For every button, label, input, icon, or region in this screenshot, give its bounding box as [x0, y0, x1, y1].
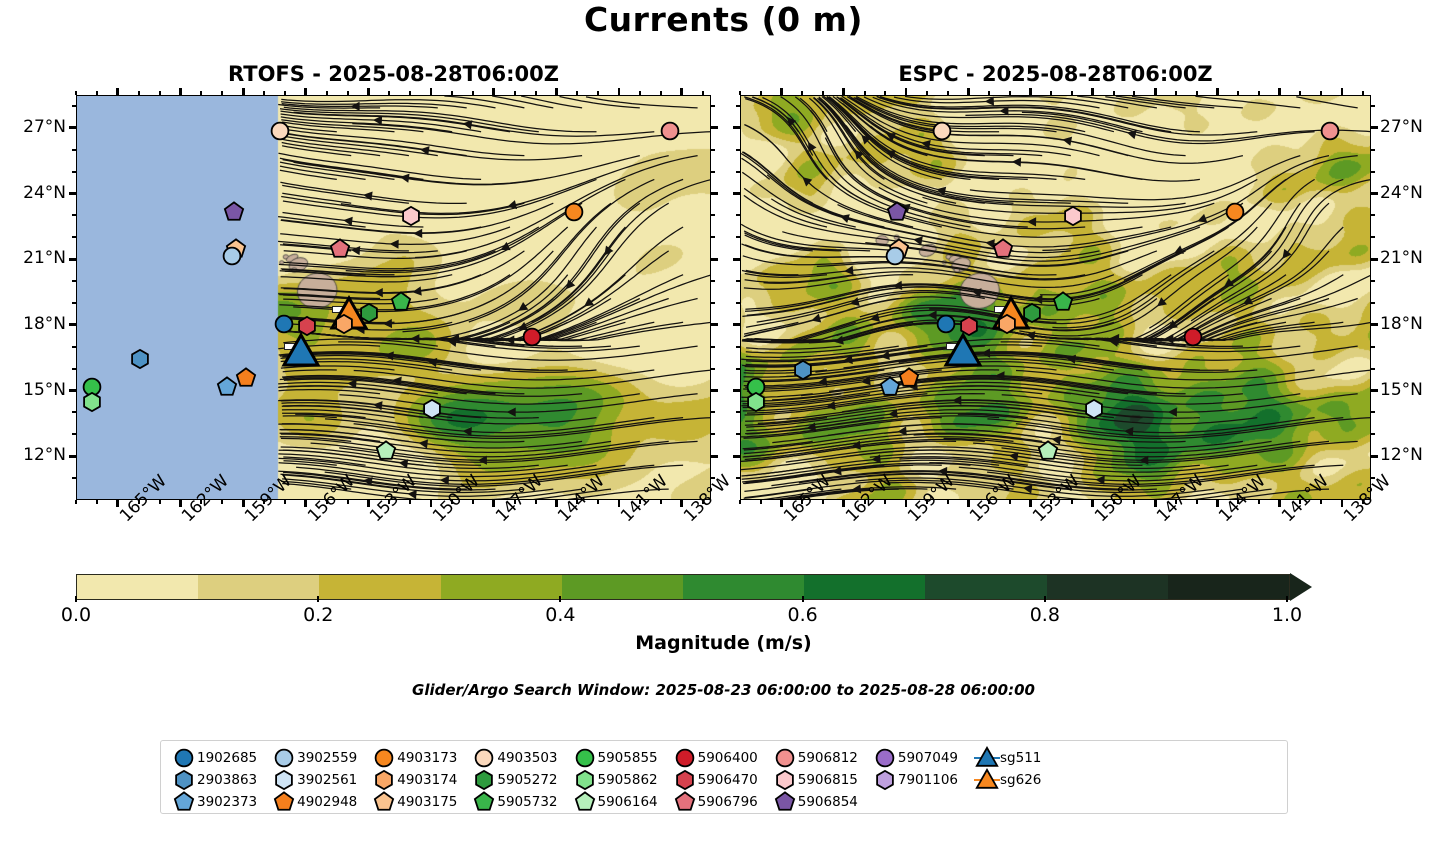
ytick-minor	[72, 477, 76, 479]
legend-item-2903863[interactable]: 2903863	[171, 770, 257, 789]
pentagon-marker-icon	[371, 792, 397, 811]
legend-item-5906400[interactable]: 5906400	[672, 748, 758, 767]
colorbar-tick-0.4: 0.4	[520, 604, 600, 626]
ytick-minor	[736, 433, 740, 435]
ytick-minor	[72, 368, 76, 370]
xtick-minor-top	[1258, 91, 1260, 95]
xtick-minor	[451, 500, 453, 504]
legend-item-1902685[interactable]: 1902685	[171, 748, 257, 767]
ytick-minor	[736, 149, 740, 151]
ytick-mark-0-18	[69, 323, 76, 326]
hexagon-marker-icon	[271, 770, 297, 789]
ytick-minor	[1371, 302, 1375, 304]
hexagon-marker-icon	[371, 770, 397, 789]
hexagon-marker-icon	[171, 770, 197, 789]
xtick-minor	[760, 500, 762, 504]
legend-label: 3902561	[297, 772, 357, 788]
ytick-minor	[736, 302, 740, 304]
ytick-minor	[711, 214, 715, 216]
xtick-minor	[514, 500, 516, 504]
ytick-minor	[1371, 236, 1375, 238]
legend-item-5905862[interactable]: 5905862	[572, 770, 658, 789]
xtick-minor-top	[801, 91, 803, 95]
xtick-minor-top	[884, 91, 886, 95]
ytick-minor	[1371, 433, 1375, 435]
xtick-mark	[492, 500, 495, 507]
ytick-mark-2-27	[733, 126, 740, 129]
ytick-minor	[1371, 171, 1375, 173]
ytick-minor	[711, 411, 715, 413]
xtick-minor-top	[1320, 91, 1322, 95]
colorbar-band-4	[562, 575, 683, 599]
xtick-minor	[702, 500, 704, 504]
xtick-mark-top	[1091, 88, 1094, 95]
xtick-minor-top	[138, 91, 140, 95]
legend-label: 4903173	[397, 750, 457, 766]
xtick-mark	[842, 500, 845, 507]
legend-label: 2903863	[197, 772, 257, 788]
ytick-minor	[711, 302, 715, 304]
colorbar-band-1	[198, 575, 319, 599]
colorbar-tick-0.6: 0.6	[763, 604, 843, 626]
ytick-minor	[1371, 411, 1375, 413]
ytick-mark-2-18	[733, 323, 740, 326]
colorbar-title: Magnitude (m/s)	[0, 632, 1447, 654]
xtick-minor-top	[451, 91, 453, 95]
ytick-minor	[736, 236, 740, 238]
ytick-minor	[1371, 214, 1375, 216]
xtick-minor-top	[1175, 91, 1177, 95]
xtick-minor-top	[388, 91, 390, 95]
legend-item-sg626[interactable]: sg626	[974, 770, 1041, 789]
legend-label: sg511	[1000, 750, 1041, 766]
colorbar-band-0	[77, 575, 198, 599]
xtick-minor-top	[739, 91, 741, 95]
colorbar-band-7	[925, 575, 1046, 599]
legend-label: 7901106	[898, 772, 958, 788]
pentagon-marker-icon	[271, 792, 297, 811]
xtick-mark-top	[367, 88, 370, 95]
xtick-mark-top	[680, 88, 683, 95]
colorbar-tick-1: 1.0	[1247, 604, 1327, 626]
ytick-minor	[711, 368, 715, 370]
circle-marker-icon	[872, 748, 898, 767]
legend-item-5906470[interactable]: 5906470	[672, 770, 758, 789]
legend-column-2: 490317349031744903175	[371, 748, 457, 811]
legend-column-3: 490350359052725905732	[471, 748, 557, 811]
ytick-label-right-21: 21°N	[1380, 248, 1447, 268]
panel-title-rtofs: RTOFS - 2025-08-28T06:00Z	[76, 62, 711, 86]
ytick-mark-0-12	[69, 455, 76, 458]
ytick-label-right-24: 24°N	[1380, 183, 1447, 203]
pentagon-marker-icon	[772, 792, 798, 811]
legend-label: 4903174	[397, 772, 457, 788]
xtick-minor-top	[263, 91, 265, 95]
ytick-label-left-27: 27°N	[4, 117, 66, 137]
xtick-minor-top	[347, 91, 349, 95]
ytick-minor	[736, 368, 740, 370]
xtick-minor-top	[1196, 91, 1198, 95]
xtick-mark	[780, 500, 783, 507]
ytick-mark-3-15	[1371, 389, 1378, 392]
legend-label: 5906815	[798, 772, 858, 788]
legend-item-5906815[interactable]: 5906815	[772, 770, 858, 789]
legend-label: 4902948	[297, 794, 357, 810]
ytick-label-right-12: 12°N	[1380, 445, 1447, 465]
xtick-minor-top	[660, 91, 662, 95]
ytick-mark-0-27	[69, 126, 76, 129]
xtick-minor	[1362, 500, 1364, 504]
hexagon-marker-icon	[872, 770, 898, 789]
xtick-minor	[1009, 500, 1011, 504]
xtick-mark	[1341, 500, 1344, 507]
ytick-minor	[1371, 149, 1375, 151]
ytick-minor	[1371, 346, 1375, 348]
xtick-minor	[263, 500, 265, 504]
xtick-minor-top	[284, 91, 286, 95]
xtick-mark-top	[242, 88, 245, 95]
legend-item-3902373[interactable]: 3902373	[171, 792, 257, 811]
xtick-minor-top	[822, 91, 824, 95]
xtick-minor	[1113, 500, 1115, 504]
ytick-mark-3-12	[1371, 455, 1378, 458]
map-panel-rtofs[interactable]	[76, 95, 711, 500]
legend-label: 1902685	[197, 750, 257, 766]
xtick-minor	[1320, 500, 1322, 504]
xtick-mark	[367, 500, 370, 507]
hexagon-marker-icon	[672, 770, 698, 789]
ytick-minor	[1371, 280, 1375, 282]
xtick-minor-top	[1009, 91, 1011, 95]
legend-item-3902561[interactable]: 3902561	[271, 770, 357, 789]
xtick-minor-top	[760, 91, 762, 95]
xtick-minor	[1299, 500, 1301, 504]
xtick-minor	[1237, 500, 1239, 504]
legend-column-8: sg511sg626	[974, 748, 1041, 789]
xtick-mark	[179, 500, 182, 507]
xtick-minor	[96, 500, 98, 504]
ytick-minor	[736, 280, 740, 282]
legend-label: 5906854	[798, 794, 858, 810]
legend-label: 5906470	[698, 772, 758, 788]
ytick-minor	[72, 149, 76, 151]
xtick-mark-top	[618, 88, 621, 95]
xtick-minor	[597, 500, 599, 504]
ytick-mark-1-15	[711, 389, 718, 392]
ytick-mark-2-21	[733, 258, 740, 261]
circle-marker-icon	[471, 748, 497, 767]
ytick-minor	[72, 105, 76, 107]
legend-column-4: 590585559058625906164	[572, 748, 658, 811]
legend-label: 5905855	[598, 750, 658, 766]
glider-triangle-icon	[974, 748, 1000, 767]
xtick-minor	[1258, 500, 1260, 504]
ytick-mark-2-24	[733, 192, 740, 195]
xtick-minor-top	[200, 91, 202, 95]
xtick-minor	[864, 500, 866, 504]
ytick-minor	[711, 236, 715, 238]
xtick-mark-top	[1029, 88, 1032, 95]
legend-item-4902948[interactable]: 4902948	[271, 792, 357, 811]
ytick-label-right-27: 27°N	[1380, 117, 1447, 137]
xtick-minor-top	[472, 91, 474, 95]
legend-item-5907049[interactable]: 5907049	[872, 748, 958, 767]
ytick-mark-3-18	[1371, 323, 1378, 326]
ytick-label-left-12: 12°N	[4, 445, 66, 465]
ytick-minor	[711, 171, 715, 173]
xtick-mark	[1029, 500, 1032, 507]
xtick-minor	[535, 500, 537, 504]
legend-item-4903173[interactable]: 4903173	[371, 748, 457, 767]
colorbar-tickmark	[75, 596, 77, 602]
xtick-minor	[639, 500, 641, 504]
circle-marker-icon	[672, 748, 698, 767]
xtick-minor-top	[576, 91, 578, 95]
xtick-mark	[905, 500, 908, 507]
ytick-label-right-15: 15°N	[1380, 380, 1447, 400]
ytick-minor	[736, 214, 740, 216]
xtick-minor	[138, 500, 140, 504]
ytick-minor	[711, 433, 715, 435]
xtick-mark	[1154, 500, 1157, 507]
xtick-minor-top	[1071, 91, 1073, 95]
xtick-minor	[884, 500, 886, 504]
xtick-minor-top	[947, 91, 949, 95]
ytick-mark-1-18	[711, 323, 718, 326]
xtick-minor	[739, 500, 741, 504]
ytick-mark-0-24	[69, 192, 76, 195]
ytick-label-left-21: 21°N	[4, 248, 66, 268]
xtick-mark	[618, 500, 621, 507]
xtick-minor-top	[1362, 91, 1364, 95]
legend-label: sg626	[1000, 772, 1041, 788]
colorbar-band-8	[1047, 575, 1168, 599]
xtick-mark-top	[1278, 88, 1281, 95]
xtick-minor	[926, 500, 928, 504]
xtick-minor-top	[221, 91, 223, 95]
figure-title: Currents (0 m)	[0, 0, 1447, 39]
colorbar-tick-0.2: 0.2	[278, 604, 358, 626]
ytick-minor	[736, 346, 740, 348]
xtick-minor	[221, 500, 223, 504]
legend-column-0: 190268529038633902373	[171, 748, 257, 811]
xtick-minor	[947, 500, 949, 504]
search-window-note: Glider/Argo Search Window: 2025-08-23 06…	[0, 681, 1447, 699]
xtick-minor	[326, 500, 328, 504]
legend-column-6: 590681259068155906854	[772, 748, 858, 811]
pentagon-marker-icon	[572, 792, 598, 811]
xtick-minor	[1133, 500, 1135, 504]
circle-marker-icon	[171, 748, 197, 767]
xtick-mark	[1216, 500, 1219, 507]
ytick-minor	[1371, 368, 1375, 370]
ytick-minor	[711, 105, 715, 107]
legend-item-3902559[interactable]: 3902559	[271, 748, 357, 767]
ytick-mark-3-27	[1371, 126, 1378, 129]
legend-label: 5906796	[698, 794, 758, 810]
xtick-mark	[116, 500, 119, 507]
legend-label: 5906164	[598, 794, 658, 810]
legend-label: 5906812	[798, 750, 858, 766]
circle-marker-icon	[572, 748, 598, 767]
xtick-minor-top	[514, 91, 516, 95]
xtick-mark-top	[492, 88, 495, 95]
ytick-mark-2-12	[733, 455, 740, 458]
colorbar-tick-0.8: 0.8	[1005, 604, 1085, 626]
xtick-minor-top	[75, 91, 77, 95]
colorbar	[76, 574, 1331, 600]
legend-item-5905732[interactable]: 5905732	[471, 792, 557, 811]
hexagon-marker-icon	[471, 770, 497, 789]
circle-marker-icon	[371, 748, 397, 767]
xtick-mark-top	[1216, 88, 1219, 95]
xtick-minor-top	[1299, 91, 1301, 95]
xtick-minor	[347, 500, 349, 504]
pentagon-marker-icon	[471, 792, 497, 811]
xtick-minor-top	[535, 91, 537, 95]
xtick-minor	[284, 500, 286, 504]
ytick-minor	[736, 171, 740, 173]
xtick-minor	[1050, 500, 1052, 504]
legend-label: 5906400	[698, 750, 758, 766]
xtick-mark	[1091, 500, 1094, 507]
ytick-minor	[72, 236, 76, 238]
colorbar-extend-arrow	[1290, 573, 1312, 601]
xtick-minor-top	[1050, 91, 1052, 95]
xtick-mark-top	[179, 88, 182, 95]
ytick-minor	[711, 280, 715, 282]
colorbar-tick-0: 0.0	[36, 604, 116, 626]
ytick-mark-0-21	[69, 258, 76, 261]
xtick-minor-top	[159, 91, 161, 95]
xtick-minor-top	[864, 91, 866, 95]
legend-item-5906812[interactable]: 5906812	[772, 748, 858, 767]
xtick-mark-top	[116, 88, 119, 95]
xtick-minor	[801, 500, 803, 504]
circle-marker-icon	[271, 748, 297, 767]
legend-item-5906854[interactable]: 5906854	[772, 792, 858, 811]
xtick-minor	[159, 500, 161, 504]
xtick-mark	[555, 500, 558, 507]
xtick-mark	[242, 500, 245, 507]
float-legend[interactable]: 1902685290386339023733902559390256149029…	[160, 740, 1288, 814]
legend-item-4903175[interactable]: 4903175	[371, 792, 457, 811]
glider-triangle-icon	[974, 770, 1000, 789]
legend-item-4903503[interactable]: 4903503	[471, 748, 557, 767]
xtick-minor-top	[96, 91, 98, 95]
legend-label: 5905272	[497, 772, 557, 788]
ytick-mark-1-12	[711, 455, 718, 458]
xtick-mark-top	[304, 88, 307, 95]
ytick-mark-3-24	[1371, 192, 1378, 195]
hexagon-marker-icon	[572, 770, 598, 789]
legend-label: 4903175	[397, 794, 457, 810]
legend-column-5: 590640059064705906796	[672, 748, 758, 811]
xtick-mark-top	[842, 88, 845, 95]
xtick-mark-top	[905, 88, 908, 95]
ytick-label-left-18: 18°N	[4, 314, 66, 334]
map-panel-espc[interactable]	[740, 95, 1371, 500]
marker-layer-rtofs	[77, 96, 710, 499]
colorbar-band-6	[804, 575, 925, 599]
ytick-minor	[736, 411, 740, 413]
xtick-mark-top	[555, 88, 558, 95]
legend-item-7901106[interactable]: 7901106	[872, 770, 958, 789]
legend-item-5905272[interactable]: 5905272	[471, 770, 557, 789]
xtick-minor	[472, 500, 474, 504]
colorbar-band-3	[441, 575, 562, 599]
colorbar-tickmark	[559, 596, 561, 602]
legend-label: 5907049	[898, 750, 958, 766]
ytick-mark-1-27	[711, 126, 718, 129]
ytick-minor	[72, 302, 76, 304]
colorbar-tickmark	[1286, 596, 1288, 602]
colorbar-band-5	[683, 575, 804, 599]
xtick-mark	[304, 500, 307, 507]
xtick-minor	[75, 500, 77, 504]
xtick-minor-top	[597, 91, 599, 95]
ytick-minor	[72, 214, 76, 216]
legend-item-5906796[interactable]: 5906796	[672, 792, 758, 811]
legend-item-sg511[interactable]: sg511	[974, 748, 1041, 767]
xtick-minor	[1196, 500, 1198, 504]
xtick-minor-top	[926, 91, 928, 95]
xtick-mark	[680, 500, 683, 507]
colorbar-band-2	[319, 575, 440, 599]
legend-item-4903174[interactable]: 4903174	[371, 770, 457, 789]
circle-marker-icon	[772, 748, 798, 767]
ytick-mark-2-15	[733, 389, 740, 392]
xtick-mark	[967, 500, 970, 507]
legend-label: 4903503	[497, 750, 557, 766]
marker-layer-espc	[741, 96, 1370, 499]
ytick-minor	[72, 171, 76, 173]
ytick-label-left-24: 24°N	[4, 183, 66, 203]
ytick-minor	[72, 280, 76, 282]
legend-label: 3902373	[197, 794, 257, 810]
xtick-minor-top	[1133, 91, 1135, 95]
legend-item-5906164[interactable]: 5906164	[572, 792, 658, 811]
xtick-minor	[988, 500, 990, 504]
ytick-minor	[736, 477, 740, 479]
ytick-minor	[72, 411, 76, 413]
colorbar-tickmark	[802, 596, 804, 602]
xtick-minor	[660, 500, 662, 504]
ytick-minor	[711, 149, 715, 151]
xtick-minor-top	[988, 91, 990, 95]
xtick-minor	[1175, 500, 1177, 504]
pentagon-marker-icon	[672, 792, 698, 811]
xtick-mark-top	[967, 88, 970, 95]
ytick-mark-3-21	[1371, 258, 1378, 261]
xtick-minor	[409, 500, 411, 504]
panel-title-espc: ESPC - 2025-08-28T06:00Z	[740, 62, 1371, 86]
ytick-minor	[72, 433, 76, 435]
legend-column-7: 59070497901106	[872, 748, 958, 789]
ytick-minor	[736, 105, 740, 107]
xtick-minor-top	[326, 91, 328, 95]
ytick-mark-1-21	[711, 258, 718, 261]
xtick-minor	[388, 500, 390, 504]
colorbar-gradient	[76, 574, 1290, 600]
xtick-minor	[822, 500, 824, 504]
xtick-minor	[576, 500, 578, 504]
ytick-label-left-15: 15°N	[4, 380, 66, 400]
xtick-minor-top	[409, 91, 411, 95]
legend-item-5905855[interactable]: 5905855	[572, 748, 658, 767]
legend-label: 5905732	[497, 794, 557, 810]
ytick-label-right-18: 18°N	[1380, 314, 1447, 334]
